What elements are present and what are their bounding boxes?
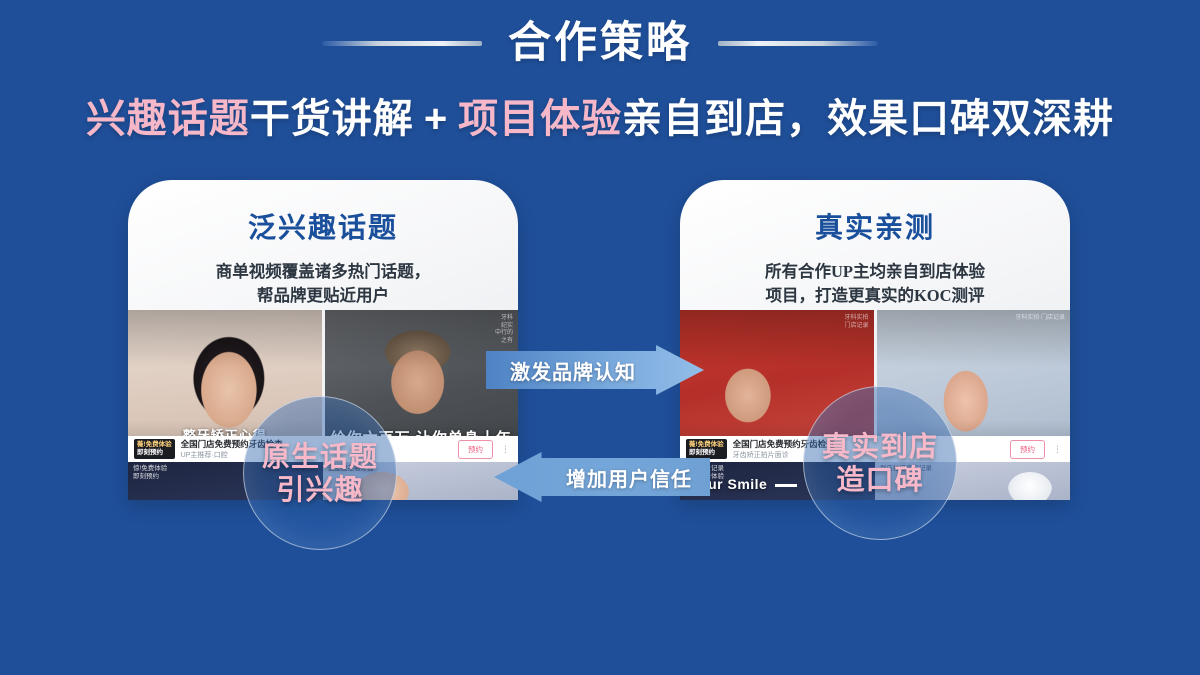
page-title: 合作策略 [508, 22, 692, 65]
promo-badge-line1: 薇!免费体验 [689, 441, 724, 449]
badge-native-topic: 原生话题 引兴趣 [243, 396, 397, 550]
platform-watermark: 牙科实拍 门店记录 [1015, 315, 1065, 323]
card-body-left-line1: 商单视频覆盖诸多热门话题， [146, 260, 500, 284]
subtitle-part-2: 干货讲解 [250, 97, 414, 141]
title-rule-left [322, 41, 482, 46]
promo-more-icon[interactable]: ⋮ [499, 444, 512, 455]
arrow-brand-awareness: 激发品牌认知 [486, 345, 704, 395]
subtitle-part-4: 亲自到店，效果口碑双深耕 [622, 97, 1114, 141]
badge-real-store-visit: 真实到店 造口碑 [803, 386, 957, 540]
under-text-dark: 惊!免费体验即刻预约 [133, 465, 167, 482]
badge-right-line2: 造口碑 [836, 464, 923, 495]
card-body-right: 所有合作UP主均亲自到店体验 项目，打造更真实的KOC测评 [698, 260, 1052, 308]
promo-more-icon[interactable]: ⋮ [1051, 444, 1064, 455]
title-rule-right [718, 41, 878, 46]
card-title-right: 真实亲测 [680, 206, 1070, 246]
promo-book-button[interactable]: 预约 [458, 440, 493, 459]
subtitle-part-plus: + [414, 97, 458, 141]
arrow-user-trust: 增加用户信任 [494, 452, 710, 502]
promo-badge: 薇!免费体验 即刻预约 [686, 439, 727, 459]
platform-watermark: 牙科纪实中行的之有 [495, 315, 513, 345]
card-body-right-line1: 所有合作UP主均亲自到店体验 [698, 260, 1052, 284]
platform-watermark: 牙科实拍门店记录 [844, 315, 868, 330]
card-body-left: 商单视频覆盖诸多热门话题， 帮品牌更贴近用户 [146, 260, 500, 308]
slide-root: 合作策略 兴趣话题干货讲解+项目体验亲自到店，效果口碑双深耕 泛兴趣话题 商单视… [0, 0, 1200, 675]
arrow-label-top: 激发品牌认知 [510, 356, 636, 385]
promo-book-button[interactable]: 预约 [1010, 440, 1045, 459]
card-title-left: 泛兴趣话题 [128, 206, 518, 246]
promo-badge-line1: 薇!免费体验 [137, 441, 172, 449]
arrow-label-bottom: 增加用户信任 [566, 463, 692, 492]
promo-badge: 薇!免费体验 即刻预约 [134, 439, 175, 459]
page-title-row: 合作策略 [0, 22, 1200, 65]
page-subtitle: 兴趣话题干货讲解+项目体验亲自到店，效果口碑双深耕 [0, 96, 1200, 142]
promo-badge-line2: 即刻预约 [137, 449, 172, 457]
subtitle-part-1: 兴趣话题 [86, 97, 250, 141]
badge-left-line1: 原生话题 [262, 441, 378, 472]
card-body-left-line2: 帮品牌更贴近用户 [146, 284, 500, 308]
badge-left-line2: 引兴趣 [276, 474, 363, 505]
promo-badge-line2: 即刻预约 [689, 449, 724, 457]
card-body-right-line2: 项目，打造更真实的KOC测评 [698, 284, 1052, 308]
brand-logo-dash [775, 484, 797, 487]
badge-right-line1: 真实到店 [822, 431, 938, 462]
under-cap-shape [1008, 472, 1052, 500]
subtitle-part-3: 项目体验 [458, 97, 622, 141]
